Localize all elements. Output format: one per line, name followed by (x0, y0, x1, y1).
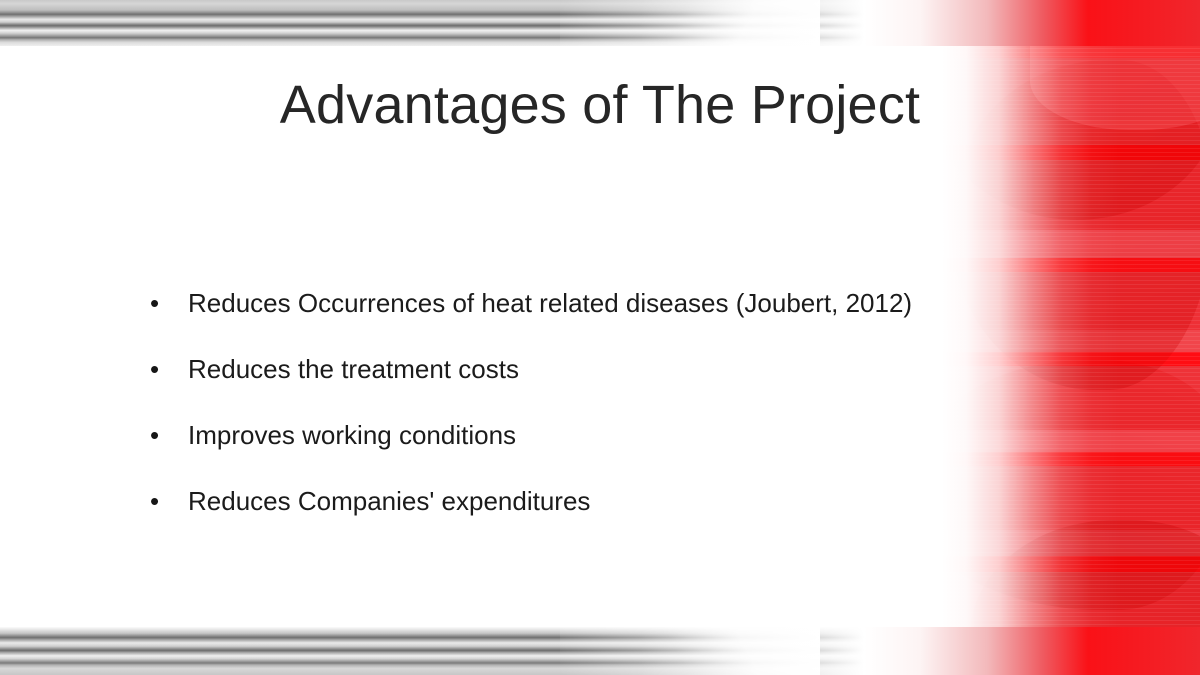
list-item: • Reduces Companies' expenditures (150, 486, 1010, 552)
bullet-point-icon: • (150, 420, 188, 450)
bullet-point-icon: • (150, 354, 188, 384)
slide-title: Advantages of The Project (0, 74, 1200, 136)
slide-content: Advantages of The Project • Reduces Occu… (0, 0, 1200, 675)
bottom-decorative-bar (0, 627, 1200, 675)
bullet-text: Reduces Companies' expenditures (188, 486, 1010, 516)
bullet-text: Improves working conditions (188, 420, 1010, 450)
top-decorative-bar (0, 0, 1200, 46)
bullet-point-icon: • (150, 288, 188, 318)
bullet-point-icon: • (150, 486, 188, 516)
bottom-bar-gold-red-wedge (640, 627, 1200, 675)
bullet-text: Reduces the treatment costs (188, 354, 1010, 384)
list-item: • Improves working conditions (150, 420, 1010, 486)
list-item: • Reduces Occurrences of heat related di… (150, 288, 1010, 354)
top-bar-gold-red-wedge (640, 0, 1200, 46)
bullet-text: Reduces Occurrences of heat related dise… (188, 288, 1010, 318)
list-item: • Reduces the treatment costs (150, 354, 1010, 420)
bullet-list: • Reduces Occurrences of heat related di… (150, 288, 1010, 552)
presentation-slide: Advantages of The Project • Reduces Occu… (0, 0, 1200, 675)
